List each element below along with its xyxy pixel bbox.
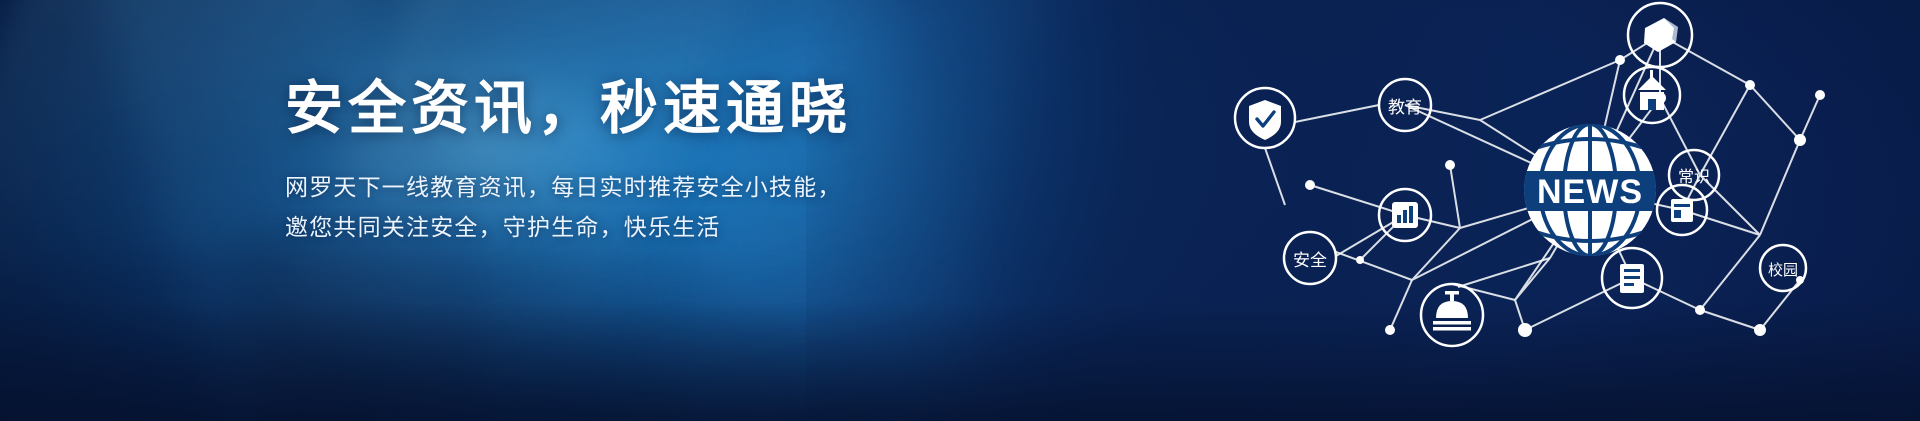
- banner-subtitle-line-2: 邀您共同关注安全，守护生命，快乐生活: [285, 207, 905, 247]
- banner-subtitle-line-1: 网罗天下一线教育资讯，每日实时推荐安全小技能，: [285, 167, 905, 207]
- calendar-icon: [1671, 199, 1693, 222]
- node-calendar[interactable]: [1657, 185, 1707, 235]
- network-dot: [1518, 323, 1532, 337]
- banner-headline: 安全资讯，秒速通晓: [285, 78, 905, 141]
- network-dot: [1815, 90, 1825, 100]
- node-common-sense[interactable]: 常识: [1669, 150, 1719, 200]
- node-document[interactable]: [1602, 248, 1662, 308]
- book-icon: [1644, 18, 1678, 52]
- news-banner: 安全资讯，秒速通晓 网罗天下一线教育资讯，每日实时推荐安全小技能， 邀您共同关注…: [0, 0, 1920, 421]
- node-chart[interactable]: [1379, 189, 1431, 241]
- node-safety-label: 安全: [1293, 251, 1327, 270]
- news-network-graphic: NEWS 教育 安全 常识 校园: [1060, 0, 1920, 421]
- network-dot: [1794, 134, 1806, 146]
- banner-subtitle: 网罗天下一线教育资讯，每日实时推荐安全小技能， 邀您共同关注安全，守护生命，快乐…: [285, 167, 905, 248]
- network-dot: [1385, 325, 1395, 335]
- network-dot: [1615, 55, 1625, 65]
- banner-copy: 安全资讯，秒速通晓 网罗天下一线教育资讯，每日实时推荐安全小技能， 邀您共同关注…: [285, 78, 905, 247]
- globe-news-label: NEWS: [1537, 173, 1643, 211]
- network-dot: [1305, 180, 1315, 190]
- shield-check-icon: [1249, 100, 1281, 140]
- node-education-label: 教育: [1388, 98, 1422, 117]
- news-globe: NEWS: [1524, 124, 1656, 256]
- node-shield[interactable]: [1235, 88, 1295, 148]
- node-education[interactable]: 教育: [1379, 79, 1431, 131]
- document-icon: [1620, 264, 1644, 293]
- node-safety[interactable]: 安全: [1284, 232, 1336, 284]
- node-common-sense-label: 常识: [1678, 168, 1710, 186]
- network-dot: [1745, 80, 1755, 90]
- bar-chart-icon: [1392, 202, 1418, 228]
- node-campus-label: 校园: [1768, 262, 1798, 279]
- node-bell[interactable]: [1421, 284, 1483, 346]
- service-bell-icon: [1433, 291, 1471, 331]
- node-campus[interactable]: 校园: [1760, 245, 1806, 291]
- network-dot: [1695, 305, 1705, 315]
- network-dot: [1445, 160, 1455, 170]
- network-dot: [1754, 324, 1766, 336]
